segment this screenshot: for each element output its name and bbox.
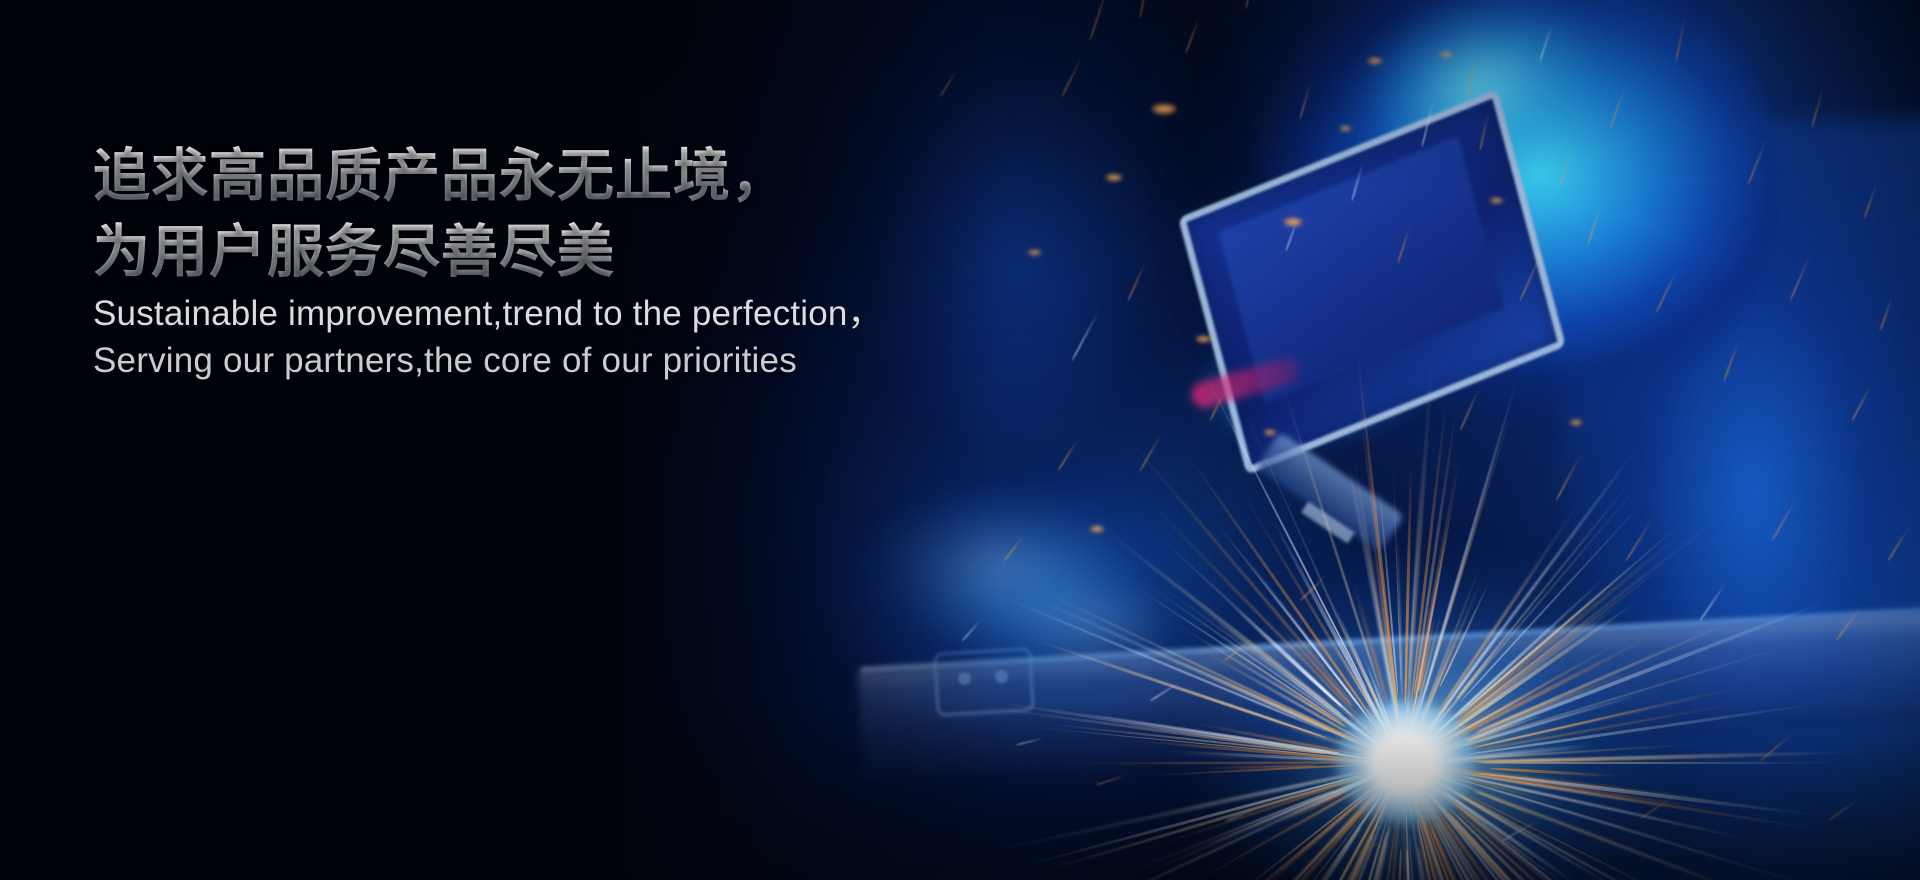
banner-copy: 追求高品质产品永无止境， 为用户服务尽善尽美 Sustainable impro…	[93, 138, 993, 384]
subhead-en-line-1: Sustainable improvement,trend to the per…	[93, 290, 993, 337]
headline-zh-line-1: 追求高品质产品永无止境，	[93, 138, 993, 214]
subhead-en-line-2: Serving our partners,the core of our pri…	[93, 337, 993, 384]
bottom-fade	[0, 700, 1920, 880]
hero-banner: 追求高品质产品永无止境， 为用户服务尽善尽美 Sustainable impro…	[0, 0, 1920, 880]
headline-zh-line-2: 为用户服务尽善尽美	[93, 214, 993, 290]
